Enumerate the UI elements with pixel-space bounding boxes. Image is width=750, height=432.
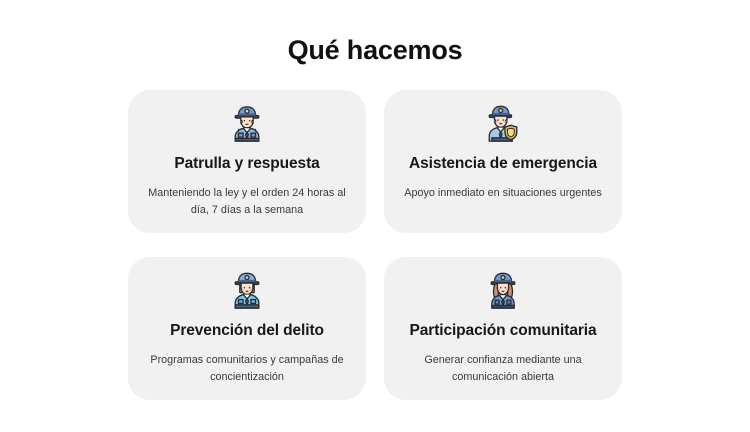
service-card-description: Programas comunitarios y campañas de con… [142, 352, 352, 387]
policewoman-icon [226, 269, 268, 313]
page-title: Qué hacemos [0, 0, 750, 66]
service-card-title: Patrulla y respuesta [174, 154, 319, 173]
service-card-prevencion[interactable]: Prevención del delito Programas comunita… [128, 257, 366, 400]
service-card-description: Manteniendo la ley y el orden 24 horas a… [142, 185, 352, 220]
police-officer-shield-icon [482, 102, 524, 146]
service-card-title: Participación comunitaria [410, 321, 597, 340]
policewoman-long-hair-icon [482, 269, 524, 313]
services-card-grid: Patrulla y respuesta Manteniendo la ley … [128, 66, 622, 400]
police-officer-icon [226, 102, 268, 146]
service-card-patrulla[interactable]: Patrulla y respuesta Manteniendo la ley … [128, 90, 366, 233]
what-we-do-section: Qué hacemos [0, 0, 750, 432]
service-card-description: Generar confianza mediante una comunicac… [398, 352, 608, 387]
service-card-title: Prevención del delito [170, 321, 324, 340]
service-card-title: Asistencia de emergencia [409, 154, 597, 173]
service-card-participacion[interactable]: Participación comunitaria Generar confia… [384, 257, 622, 400]
service-card-description: Apoyo inmediato en situaciones urgentes [404, 185, 601, 202]
service-card-emergencia[interactable]: Asistencia de emergencia Apoyo inmediato… [384, 90, 622, 233]
